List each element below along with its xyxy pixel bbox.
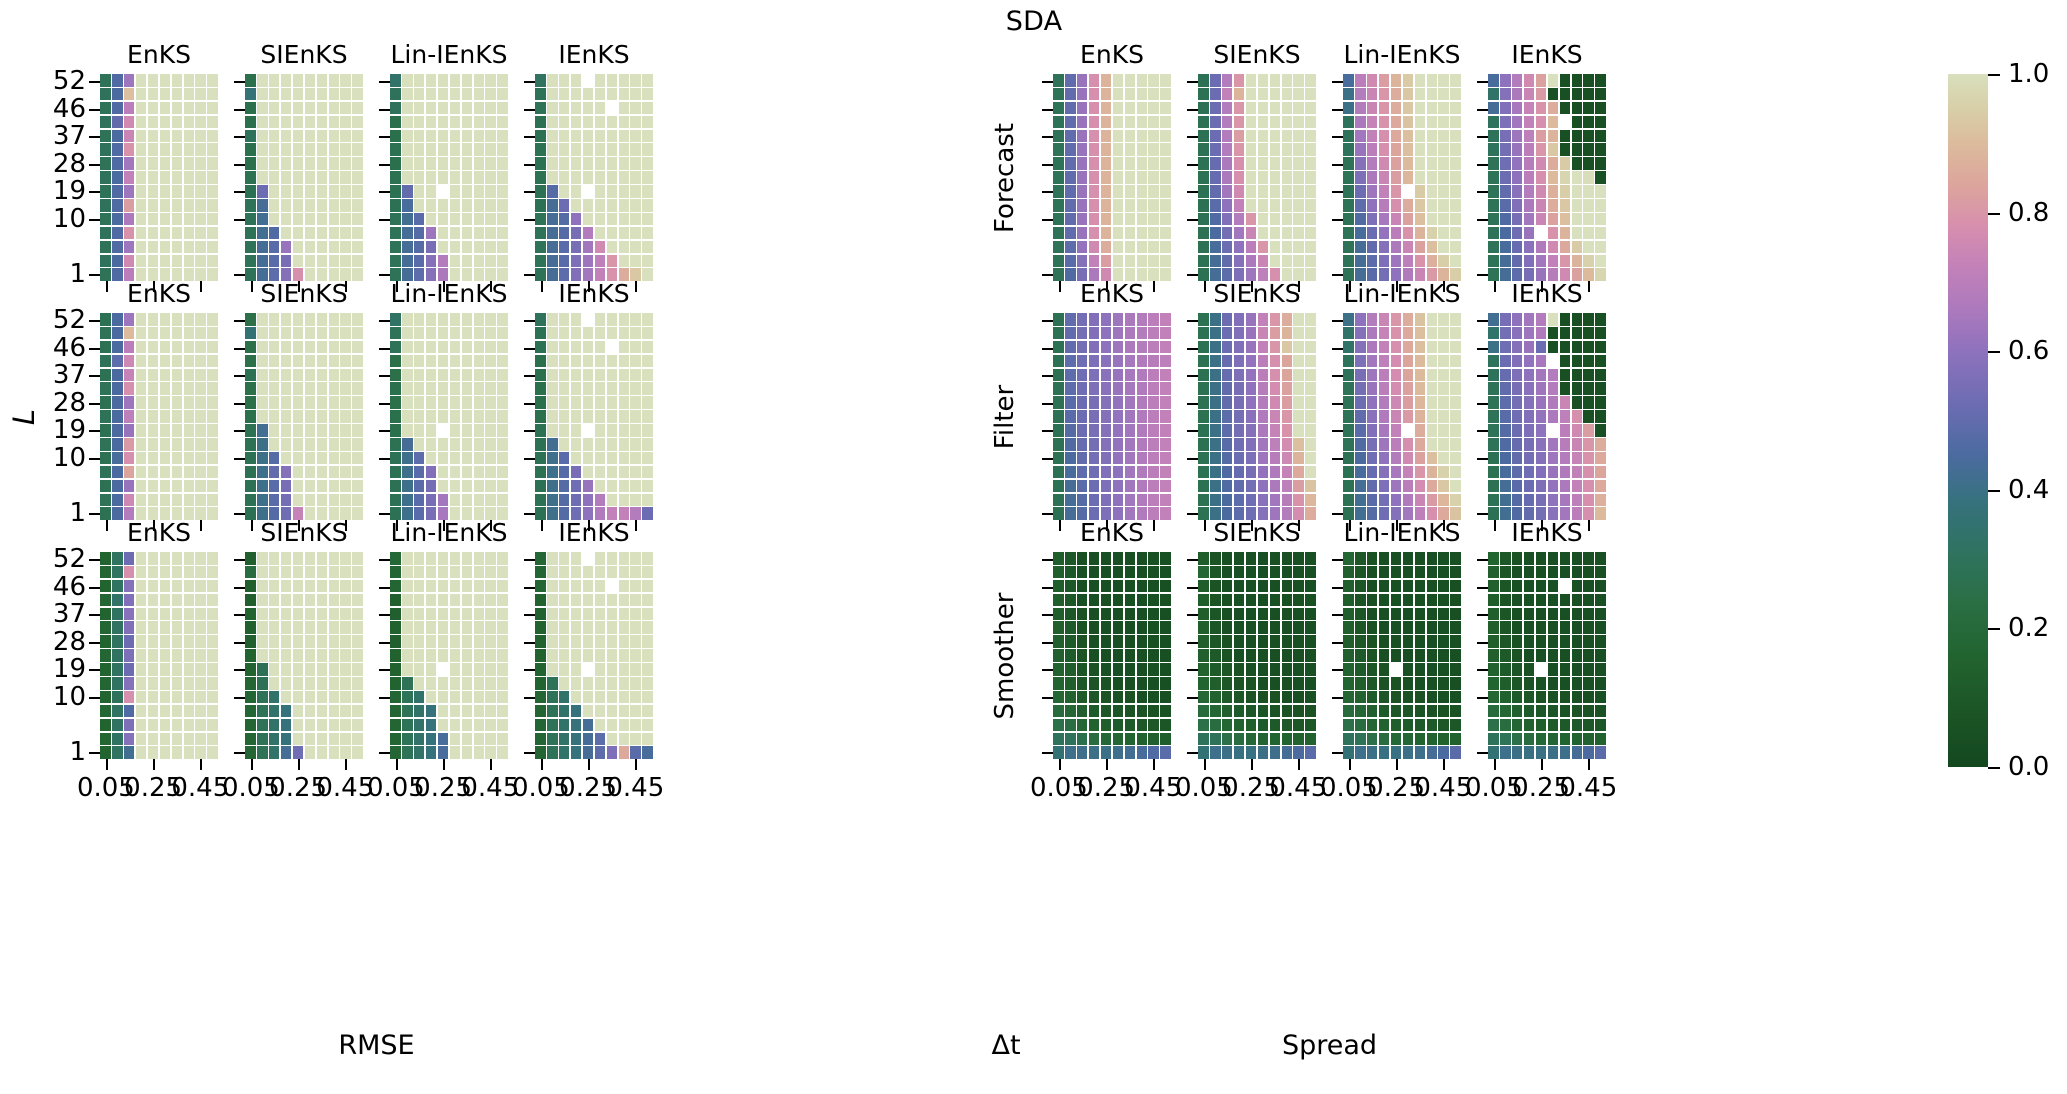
heatmap-cell bbox=[1258, 663, 1269, 676]
heatmap-cell bbox=[281, 327, 292, 340]
heatmap-cell bbox=[1222, 327, 1233, 340]
heatmap-cell bbox=[619, 733, 630, 746]
heatmap-cell bbox=[1113, 649, 1124, 662]
heatmap-cell bbox=[112, 621, 123, 634]
heatmap-cell bbox=[1548, 635, 1559, 648]
heatmap-cell bbox=[1536, 677, 1547, 690]
heatmap-cell bbox=[1379, 327, 1390, 340]
heatmap-cell bbox=[1427, 130, 1438, 143]
heatmap-cell bbox=[1160, 213, 1171, 226]
heatmap-cell bbox=[1355, 480, 1366, 493]
heatmap-cell bbox=[305, 677, 316, 690]
y-tick bbox=[1477, 752, 1488, 754]
heatmap-cell bbox=[124, 313, 135, 326]
heatmap-cell bbox=[497, 213, 508, 226]
heatmap-cell bbox=[1198, 566, 1209, 579]
heatmap-cell bbox=[269, 102, 280, 115]
heatmap-cell bbox=[1343, 143, 1354, 156]
heatmap-cell bbox=[293, 410, 304, 423]
heatmap-cell bbox=[329, 410, 340, 423]
heatmap-cell bbox=[630, 733, 641, 746]
heatmap-cell bbox=[207, 382, 218, 395]
heatmap-cell bbox=[1210, 171, 1221, 184]
heatmap-cell bbox=[1089, 327, 1100, 340]
heatmap-cell bbox=[1101, 677, 1112, 690]
heatmap-cell bbox=[329, 552, 340, 565]
heatmap-cell bbox=[1293, 157, 1304, 170]
heatmap-cell bbox=[426, 719, 437, 732]
heatmap-cell bbox=[195, 74, 206, 87]
heatmap-cell bbox=[1560, 705, 1571, 718]
heatmap-cell bbox=[1500, 452, 1511, 465]
heatmap-cell bbox=[124, 157, 135, 170]
heatmap-cell bbox=[630, 746, 641, 759]
heatmap-cell bbox=[1536, 130, 1547, 143]
heatmap-cell bbox=[1488, 719, 1499, 732]
heatmap-cell bbox=[1488, 130, 1499, 143]
heatmap-cell bbox=[1488, 116, 1499, 129]
heatmap-cell bbox=[1198, 424, 1209, 437]
heatmap-cell bbox=[1160, 733, 1171, 746]
heatmap-cell bbox=[1258, 382, 1269, 395]
y-tick bbox=[234, 458, 245, 460]
heatmap-cell bbox=[207, 705, 218, 718]
heatmap-cell bbox=[1234, 185, 1245, 198]
heatmap-cell bbox=[340, 494, 351, 507]
heatmap-cell bbox=[1101, 241, 1112, 254]
heatmap-cell bbox=[245, 382, 256, 395]
heatmap-cell bbox=[1379, 102, 1390, 115]
y-tick bbox=[234, 559, 245, 561]
heatmap-cell bbox=[1234, 355, 1245, 368]
heatmap-cell bbox=[474, 157, 485, 170]
heatmap-cell bbox=[124, 341, 135, 354]
heatmap-cell bbox=[559, 130, 570, 143]
heatmap-cell bbox=[1403, 677, 1414, 690]
y-tick bbox=[379, 697, 390, 699]
heatmap-cell bbox=[293, 635, 304, 648]
heatmap-cell bbox=[269, 382, 280, 395]
heatmap-cell bbox=[1536, 185, 1547, 198]
x-tick bbox=[1153, 759, 1155, 770]
heatmap-cell bbox=[1391, 691, 1402, 704]
heatmap-cell bbox=[1524, 102, 1535, 115]
heatmap-cell bbox=[1137, 480, 1148, 493]
heatmap-cell bbox=[426, 649, 437, 662]
heatmap-cell bbox=[269, 157, 280, 170]
heatmap-cell bbox=[630, 438, 641, 451]
heatmap-cell bbox=[559, 552, 570, 565]
heatmap-cell bbox=[352, 566, 363, 579]
heatmap-cell bbox=[1234, 677, 1245, 690]
heatmap-cell bbox=[184, 621, 195, 634]
heatmap-cell bbox=[497, 424, 508, 437]
heatmap-cell bbox=[642, 355, 653, 368]
heatmap-cell bbox=[402, 494, 413, 507]
heatmap-cell bbox=[1524, 691, 1535, 704]
heatmap-cell bbox=[438, 705, 449, 718]
heatmap-cell bbox=[1089, 88, 1100, 101]
y-tick bbox=[524, 430, 535, 432]
heatmap-cell bbox=[1101, 369, 1112, 382]
heatmap-cell bbox=[1415, 227, 1426, 240]
heatmap-cell bbox=[1355, 171, 1366, 184]
heatmap-cell bbox=[269, 327, 280, 340]
heatmap-cell bbox=[269, 746, 280, 759]
heatmap-cell bbox=[1148, 369, 1159, 382]
y-tick bbox=[524, 320, 535, 322]
heatmap-cell bbox=[630, 621, 641, 634]
heatmap-cell bbox=[474, 705, 485, 718]
heatmap-cell bbox=[184, 663, 195, 676]
heatmap-cell bbox=[1415, 74, 1426, 87]
heatmap-cell bbox=[1210, 466, 1221, 479]
heatmap-cell bbox=[1391, 74, 1402, 87]
heatmap-cell bbox=[112, 355, 123, 368]
heatmap-cell bbox=[293, 677, 304, 690]
heatmap-cell bbox=[390, 663, 401, 676]
heatmap-cell bbox=[630, 480, 641, 493]
heatmap-cell bbox=[100, 621, 111, 634]
heatmap-cell bbox=[535, 594, 546, 607]
heatmap-cell bbox=[245, 185, 256, 198]
heatmap-cell bbox=[1355, 705, 1366, 718]
heatmap-cell bbox=[329, 594, 340, 607]
heatmap-cell bbox=[559, 677, 570, 690]
heatmap-cell bbox=[1438, 199, 1449, 212]
y-tick bbox=[1477, 219, 1488, 221]
heatmap-cell bbox=[281, 369, 292, 382]
heatmap-cell bbox=[630, 663, 641, 676]
heatmap-cell bbox=[1222, 705, 1233, 718]
heatmap-cell bbox=[1222, 746, 1233, 759]
heatmap-cell bbox=[245, 102, 256, 115]
heatmap-cell bbox=[595, 102, 606, 115]
heatmap-cell bbox=[1379, 227, 1390, 240]
heatmap-cell bbox=[340, 102, 351, 115]
heatmap-cell bbox=[390, 213, 401, 226]
heatmap-cell bbox=[293, 143, 304, 156]
heatmap-cell bbox=[1450, 241, 1461, 254]
heatmap-cell bbox=[1137, 552, 1148, 565]
heatmap-cell bbox=[1488, 171, 1499, 184]
heatmap-cell bbox=[160, 382, 171, 395]
heatmap-cell bbox=[172, 199, 183, 212]
heatmap-cell bbox=[1065, 566, 1076, 579]
heatmap-cell bbox=[1293, 313, 1304, 326]
heatmap-cell bbox=[1524, 382, 1535, 395]
y-tick bbox=[379, 81, 390, 83]
heatmap-cell bbox=[1427, 143, 1438, 156]
heatmap-cell bbox=[1343, 677, 1354, 690]
heatmap-cell bbox=[571, 382, 582, 395]
y-tick bbox=[1332, 458, 1343, 460]
heatmap-cell bbox=[100, 649, 111, 662]
heatmap-cell bbox=[1415, 621, 1426, 634]
heatmap-cell bbox=[293, 424, 304, 437]
heatmap-cell bbox=[245, 88, 256, 101]
heatmap-cell bbox=[1258, 424, 1269, 437]
heatmap-cell bbox=[305, 705, 316, 718]
heatmap-cell bbox=[438, 213, 449, 226]
heatmap-cell bbox=[1053, 74, 1064, 87]
heatmap-cell bbox=[1101, 396, 1112, 409]
panel-title-sienks: SIEnKS bbox=[1198, 279, 1316, 308]
heatmap-cell bbox=[1222, 410, 1233, 423]
heatmap-cell bbox=[136, 608, 147, 621]
heatmap-cell bbox=[329, 130, 340, 143]
heatmap-cell bbox=[305, 396, 316, 409]
heatmap-cell bbox=[1379, 396, 1390, 409]
heatmap-cell bbox=[1160, 241, 1171, 254]
heatmap-cell bbox=[1415, 241, 1426, 254]
heatmap-cell bbox=[1270, 382, 1281, 395]
heatmap-cell bbox=[1583, 663, 1594, 676]
heatmap-cell bbox=[571, 452, 582, 465]
y-tick bbox=[1042, 430, 1053, 432]
heatmap-cell bbox=[1065, 424, 1076, 437]
heatmap-cell bbox=[402, 116, 413, 129]
heatmap-cell bbox=[1198, 241, 1209, 254]
heatmap-cell bbox=[112, 424, 123, 437]
heatmap-cell bbox=[257, 424, 268, 437]
heatmap-cell bbox=[1137, 635, 1148, 648]
heatmap-cell bbox=[1113, 130, 1124, 143]
heatmap-cell bbox=[630, 355, 641, 368]
heatmap-cell bbox=[1053, 649, 1064, 662]
heatmap-cell bbox=[1512, 705, 1523, 718]
heatmap-cell bbox=[450, 705, 461, 718]
heatmap-cell bbox=[1198, 691, 1209, 704]
heatmap-cell bbox=[438, 241, 449, 254]
heatmap-cell bbox=[535, 608, 546, 621]
heatmap-cell bbox=[1548, 88, 1559, 101]
heatmap-cell bbox=[1488, 466, 1499, 479]
heatmap-cell bbox=[207, 635, 218, 648]
heatmap-cell bbox=[1222, 157, 1233, 170]
heatmap-cell bbox=[112, 719, 123, 732]
heatmap-grid bbox=[535, 74, 653, 281]
heatmap-cell bbox=[1246, 102, 1257, 115]
heatmap-cell bbox=[1089, 552, 1100, 565]
heatmap-cell bbox=[317, 466, 328, 479]
heatmap-cell bbox=[450, 199, 461, 212]
heatmap-cell bbox=[1113, 369, 1124, 382]
heatmap-cell bbox=[402, 663, 413, 676]
heatmap-grid bbox=[100, 74, 218, 281]
heatmap-cell bbox=[1053, 227, 1064, 240]
heatmap-cell bbox=[160, 494, 171, 507]
heatmap-cell bbox=[136, 480, 147, 493]
heatmap-cell bbox=[1258, 705, 1269, 718]
heatmap-cell bbox=[414, 199, 425, 212]
heatmap-cell bbox=[148, 355, 159, 368]
heatmap-cell bbox=[1305, 88, 1316, 101]
heatmap-cell bbox=[148, 116, 159, 129]
heatmap-cell bbox=[1512, 102, 1523, 115]
heatmap-cell bbox=[124, 410, 135, 423]
heatmap-cell bbox=[1160, 88, 1171, 101]
heatmap-cell bbox=[1053, 452, 1064, 465]
heatmap-cell bbox=[571, 705, 582, 718]
heatmap-cell bbox=[1113, 327, 1124, 340]
heatmap-cell bbox=[1137, 466, 1148, 479]
heatmap-cell bbox=[195, 116, 206, 129]
heatmap-cell bbox=[1270, 733, 1281, 746]
heatmap-cell bbox=[136, 341, 147, 354]
heatmap-cell bbox=[293, 452, 304, 465]
heatmap-cell bbox=[293, 157, 304, 170]
heatmap-cell bbox=[124, 355, 135, 368]
heatmap-cell bbox=[257, 199, 268, 212]
heatmap-cell bbox=[1305, 213, 1316, 226]
heatmap-cell bbox=[1524, 157, 1535, 170]
heatmap-cell bbox=[1548, 327, 1559, 340]
heatmap-cell bbox=[571, 241, 582, 254]
heatmap-cell bbox=[426, 691, 437, 704]
heatmap-cell bbox=[1595, 480, 1606, 493]
heatmap-cell bbox=[148, 327, 159, 340]
heatmap-cell bbox=[497, 705, 508, 718]
heatmap-cell bbox=[184, 635, 195, 648]
heatmap-cell bbox=[1560, 621, 1571, 634]
heatmap-cell bbox=[1210, 130, 1221, 143]
y-tick bbox=[1042, 191, 1053, 193]
heatmap-cell bbox=[630, 677, 641, 690]
panel-title-ienks: IEnKS bbox=[535, 279, 653, 308]
heatmap-cell bbox=[1355, 241, 1366, 254]
heatmap-cell bbox=[1450, 438, 1461, 451]
heatmap-cell bbox=[136, 185, 147, 198]
heatmap-cell bbox=[1125, 313, 1136, 326]
heatmap-cell bbox=[559, 355, 570, 368]
heatmap-cell bbox=[1101, 480, 1112, 493]
heatmap-cell bbox=[1500, 157, 1511, 170]
heatmap-cell bbox=[305, 227, 316, 240]
heatmap-cell bbox=[1367, 438, 1378, 451]
heatmap-cell bbox=[184, 691, 195, 704]
heatmap-cell bbox=[1427, 382, 1438, 395]
heatmap-cell bbox=[1101, 438, 1112, 451]
heatmap-cell bbox=[1160, 580, 1171, 593]
heatmap-cell bbox=[607, 74, 618, 87]
heatmap-cell bbox=[195, 369, 206, 382]
heatmap-cell bbox=[535, 74, 546, 87]
heatmap-cell bbox=[1512, 566, 1523, 579]
heatmap-cell bbox=[1246, 705, 1257, 718]
heatmap-cell bbox=[390, 382, 401, 395]
heatmap-cell bbox=[485, 705, 496, 718]
heatmap-cell bbox=[462, 171, 473, 184]
heatmap-cell bbox=[1367, 341, 1378, 354]
heatmap-cell bbox=[1089, 355, 1100, 368]
heatmap-cell bbox=[1222, 213, 1233, 226]
heatmap-cell bbox=[450, 185, 461, 198]
heatmap-cell bbox=[1403, 185, 1414, 198]
heatmap-cell bbox=[1572, 143, 1583, 156]
heatmap-cell bbox=[1160, 594, 1171, 607]
heatmap-cell bbox=[124, 199, 135, 212]
heatmap-cell bbox=[1450, 255, 1461, 268]
heatmap-cell bbox=[317, 199, 328, 212]
heatmap-cell bbox=[1258, 677, 1269, 690]
heatmap-cell bbox=[1065, 143, 1076, 156]
heatmap-cell bbox=[257, 241, 268, 254]
heatmap-cell bbox=[1293, 382, 1304, 395]
heatmap-cell bbox=[329, 580, 340, 593]
heatmap-cell bbox=[195, 341, 206, 354]
heatmap-cell bbox=[535, 705, 546, 718]
heatmap-cell bbox=[317, 452, 328, 465]
x-tick bbox=[1396, 759, 1398, 770]
heatmap-cell bbox=[1488, 663, 1499, 676]
heatmap-cell bbox=[1258, 594, 1269, 607]
heatmap-cell bbox=[317, 424, 328, 437]
heatmap-cell bbox=[340, 410, 351, 423]
heatmap-cell bbox=[583, 424, 594, 437]
heatmap-cell bbox=[1548, 466, 1559, 479]
heatmap-cell bbox=[1113, 213, 1124, 226]
heatmap-cell bbox=[462, 580, 473, 593]
heatmap-cell bbox=[607, 102, 618, 115]
heatmap-cell bbox=[1246, 143, 1257, 156]
colorbar[interactable]: 1.00.80.60.40.20.0 bbox=[1948, 74, 1988, 767]
y-tick bbox=[524, 348, 535, 350]
heatmap-cell bbox=[1234, 608, 1245, 621]
heatmap-cell bbox=[1125, 691, 1136, 704]
heatmap-cell bbox=[607, 88, 618, 101]
heatmap-cell bbox=[293, 621, 304, 634]
heatmap-cell bbox=[1403, 382, 1414, 395]
heatmap-cell bbox=[1258, 143, 1269, 156]
heatmap-cell bbox=[1198, 452, 1209, 465]
heatmap-cell bbox=[1355, 143, 1366, 156]
heatmap-cell bbox=[1282, 199, 1293, 212]
y-tick bbox=[1187, 375, 1198, 377]
heatmap-cell bbox=[414, 466, 425, 479]
panel-title-ienks: IEnKS bbox=[535, 40, 653, 69]
heatmap-cell bbox=[148, 341, 159, 354]
heatmap-cell bbox=[1524, 143, 1535, 156]
heatmap-cell bbox=[1125, 608, 1136, 621]
heatmap-cell bbox=[1391, 227, 1402, 240]
heatmap-cell bbox=[1583, 116, 1594, 129]
heatmap-cell bbox=[136, 255, 147, 268]
heatmap-cell bbox=[1222, 341, 1233, 354]
heatmap-cell bbox=[390, 88, 401, 101]
heatmap-cell bbox=[1595, 130, 1606, 143]
heatmap-cell bbox=[1113, 691, 1124, 704]
heatmap-cell bbox=[583, 313, 594, 326]
heatmap-cell bbox=[438, 143, 449, 156]
heatmap-cell bbox=[112, 608, 123, 621]
heatmap-cell bbox=[184, 480, 195, 493]
heatmap-cell bbox=[1438, 566, 1449, 579]
heatmap-cell bbox=[317, 480, 328, 493]
heatmap-cell bbox=[607, 608, 618, 621]
heatmap-cell bbox=[1415, 594, 1426, 607]
heatmap-cell bbox=[1234, 241, 1245, 254]
heatmap-cell bbox=[559, 396, 570, 409]
heatmap-cell bbox=[1258, 88, 1269, 101]
heatmap-cell bbox=[1512, 733, 1523, 746]
heatmap-cell bbox=[1222, 255, 1233, 268]
heatmap-cell bbox=[112, 580, 123, 593]
y-tick bbox=[1477, 109, 1488, 111]
heatmap-cell bbox=[630, 171, 641, 184]
heatmap-cell bbox=[1572, 396, 1583, 409]
heatmap-cell bbox=[1536, 313, 1547, 326]
